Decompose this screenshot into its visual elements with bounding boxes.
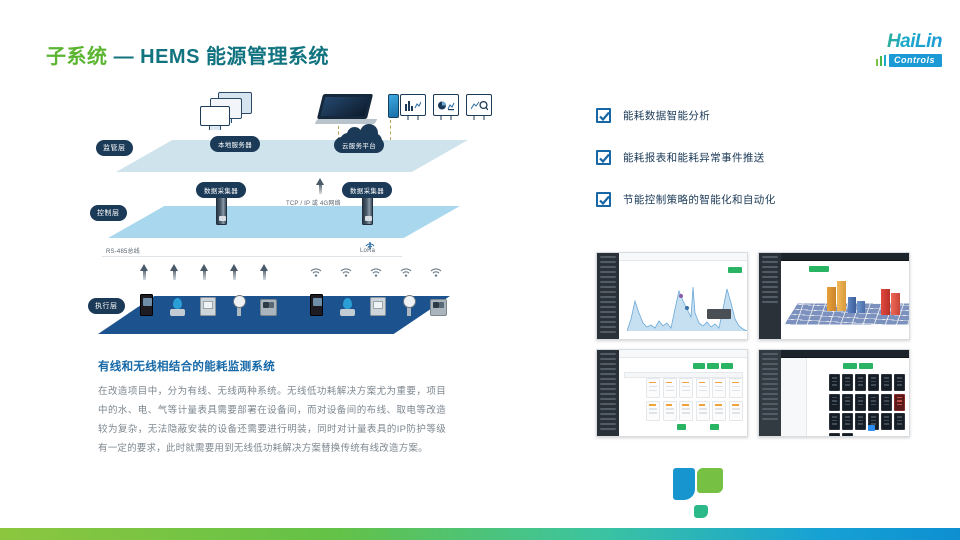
thumb-device-tile	[829, 374, 840, 391]
thumb-tag	[843, 363, 857, 369]
lora-antenna-icon	[364, 236, 376, 246]
cloud-platform-label: 云服务平台	[334, 137, 384, 153]
checklist-item-label: 能耗报表和能耗异常事件推送	[623, 150, 765, 165]
bottom-gradient-bar	[0, 528, 960, 540]
thumb-titlebar	[619, 350, 747, 358]
smartphone-icon	[388, 94, 399, 118]
thumb-bar	[827, 287, 836, 311]
pie-chart-monitor-icon	[433, 94, 459, 116]
screenshot-device-card-list[interactable]	[596, 349, 748, 437]
logo-controls-label: Controls	[889, 54, 942, 67]
wifi-icon	[430, 264, 442, 274]
thumb-device-tile	[894, 374, 905, 391]
page-title-prefix: 子系统	[46, 46, 114, 68]
gas-meter-icon	[370, 297, 386, 316]
decor-leaf-blue	[673, 468, 695, 500]
thumb-device-tile	[881, 413, 892, 430]
control-layer-plane	[108, 206, 460, 238]
thumb-card	[663, 378, 677, 398]
thumb-titlebar	[781, 253, 909, 261]
thumb-card	[679, 378, 693, 398]
thumb-card	[729, 401, 743, 421]
thumb-content	[619, 358, 747, 436]
thumb-device-tile	[842, 394, 853, 411]
gas-meter-icon	[200, 297, 216, 316]
thumb-card	[696, 378, 710, 398]
water-sensor-icon	[340, 298, 354, 316]
page-title: 子系统 — HEMS 能源管理系统	[46, 40, 329, 69]
layer-tag-control: 控制层	[90, 205, 127, 221]
layer-tag-monitoring: 监管层	[96, 140, 133, 156]
thumb-card	[646, 401, 660, 421]
checklist-item[interactable]: 节能控制策略的智能化和自动化	[596, 192, 916, 207]
meter-devices-row	[132, 276, 472, 316]
data-collector-wired-icon	[216, 195, 227, 225]
wifi-icon	[310, 264, 322, 274]
data-collector-wireless-label: 数据采集器	[342, 182, 392, 198]
page-title-suffix: — HEMS 能源管理系统	[114, 46, 329, 68]
thumb-action-button	[728, 267, 742, 273]
caption-body: 在改造项目中，分为有线、无线两种系统。无线低功耗解决方案尤为重要，项目中的水、电…	[98, 382, 446, 458]
layer-tag-execution: 执行层	[88, 298, 125, 314]
thumb-action-button	[693, 363, 705, 369]
decor-leaf-green	[697, 468, 723, 493]
thumb-device-tile	[842, 374, 853, 391]
logo-wordmark: HaiLin	[830, 32, 942, 52]
bus-line	[102, 256, 402, 257]
thumb-card	[696, 401, 710, 421]
data-collector-wireless-icon	[362, 195, 373, 225]
thumb-sidebar	[759, 253, 781, 339]
thumb-area-chart	[627, 279, 747, 331]
architecture-diagram: 云服务平台 监管层 本地服务器 TCP / IP 或 4G网络 控制层 数据采集…	[88, 78, 508, 348]
thumb-device-tile	[881, 374, 892, 391]
thumb-device-grid	[829, 374, 905, 437]
checkmark-icon[interactable]	[596, 150, 611, 165]
thumb-device-tile	[855, 374, 866, 391]
wifi-icon	[400, 264, 412, 274]
thumb-card	[712, 401, 726, 421]
checklist-item[interactable]: 能耗数据智能分析	[596, 108, 916, 123]
logo-bars-icon	[876, 55, 887, 66]
thumb-card	[729, 378, 743, 398]
thumb-tree-panel	[781, 358, 807, 436]
screenshot-energy-trend-dashboard[interactable]	[596, 252, 748, 340]
decor-leaf-teal	[694, 505, 708, 518]
thumb-titlebar	[619, 253, 747, 261]
screenshot-energy-3d-bar-report[interactable]	[758, 252, 910, 340]
thumb-bar	[837, 281, 846, 311]
thumb-device-tile	[894, 413, 905, 430]
local-server-monitors-icon	[200, 92, 262, 136]
thumb-device-tile-alert	[894, 394, 905, 411]
electric-meter-icon	[140, 294, 153, 316]
thumb-device-tile	[842, 433, 853, 438]
thumb-device-tile	[855, 413, 866, 430]
thumb-sidebar	[597, 350, 619, 436]
laptop-icon	[316, 94, 376, 126]
electric-meter-icon	[310, 294, 323, 316]
pressure-gauge-icon	[232, 295, 247, 316]
screenshot-device-monitor-grid[interactable]	[758, 349, 910, 437]
checklist-item-label: 能耗数据智能分析	[623, 108, 710, 123]
rs485-bus-label: RS-485总线	[106, 246, 140, 255]
flow-meter-icon	[430, 299, 447, 316]
flow-meter-icon	[260, 299, 277, 316]
bar-chart-monitor-icon	[400, 94, 426, 116]
thumb-card	[679, 401, 693, 421]
thumb-device-tile	[881, 394, 892, 411]
checklist-item-label: 节能控制策略的智能化和自动化	[623, 192, 776, 207]
thumb-pagination	[710, 424, 719, 430]
thumb-pagination	[677, 424, 686, 430]
checklist-item[interactable]: 能耗报表和能耗异常事件推送	[596, 150, 916, 165]
thumb-content	[781, 261, 909, 339]
thumb-bar	[881, 289, 890, 315]
data-collector-wired-label: 数据采集器	[196, 182, 246, 198]
thumb-content	[619, 261, 747, 339]
water-sensor-icon	[170, 298, 184, 316]
thumb-tooltip	[707, 309, 731, 319]
thumb-bar	[891, 293, 900, 315]
monitoring-layer-plane	[116, 140, 468, 172]
dashed-connector	[390, 120, 391, 140]
thumb-bar	[848, 297, 856, 313]
uplink-arrow-icon	[316, 178, 325, 194]
thumb-action-button	[707, 363, 719, 369]
logo-subrow: Controls	[830, 54, 942, 67]
thumb-device-tile	[868, 374, 879, 391]
pressure-gauge-icon	[402, 295, 417, 316]
thumb-tag	[859, 363, 873, 369]
local-server-label: 本地服务器	[210, 136, 260, 152]
thumb-device-tile	[829, 433, 840, 438]
thumb-device-tile	[842, 413, 853, 430]
thumb-card-grid	[646, 378, 743, 421]
wifi-icon	[340, 264, 352, 274]
thumb-titlebar	[781, 350, 909, 358]
thumb-card	[663, 401, 677, 421]
lora-label: LoRa	[360, 248, 375, 254]
screenshot-gallery	[596, 252, 910, 437]
analytics-monitor-icon	[466, 94, 492, 116]
thumb-tag	[809, 266, 829, 272]
thumb-device-tile	[868, 394, 879, 411]
feature-checklist: 能耗数据智能分析 能耗报表和能耗异常事件推送 节能控制策略的智能化和自动化	[596, 108, 916, 234]
thumb-sidebar	[759, 350, 781, 436]
thumb-device-tile	[829, 394, 840, 411]
network-link-label: TCP / IP 或 4G网络	[286, 198, 341, 207]
checkmark-icon[interactable]	[596, 108, 611, 123]
thumb-device-tile	[829, 413, 840, 430]
thumb-action-button	[721, 363, 733, 369]
thumb-card	[712, 378, 726, 398]
dashboard-monitors-row	[400, 94, 492, 116]
checkmark-icon[interactable]	[596, 192, 611, 207]
thumb-bar	[857, 301, 865, 313]
wifi-icon	[370, 264, 382, 274]
thumb-device-tile	[855, 394, 866, 411]
thumb-content	[781, 358, 909, 436]
thumb-card	[646, 378, 660, 398]
brand-logo: HaiLin Controls	[830, 32, 942, 72]
thumb-pagination	[868, 425, 875, 431]
caption-title: 有线和无线相结合的能耗监测系统	[98, 358, 275, 374]
thumb-sidebar	[597, 253, 619, 339]
